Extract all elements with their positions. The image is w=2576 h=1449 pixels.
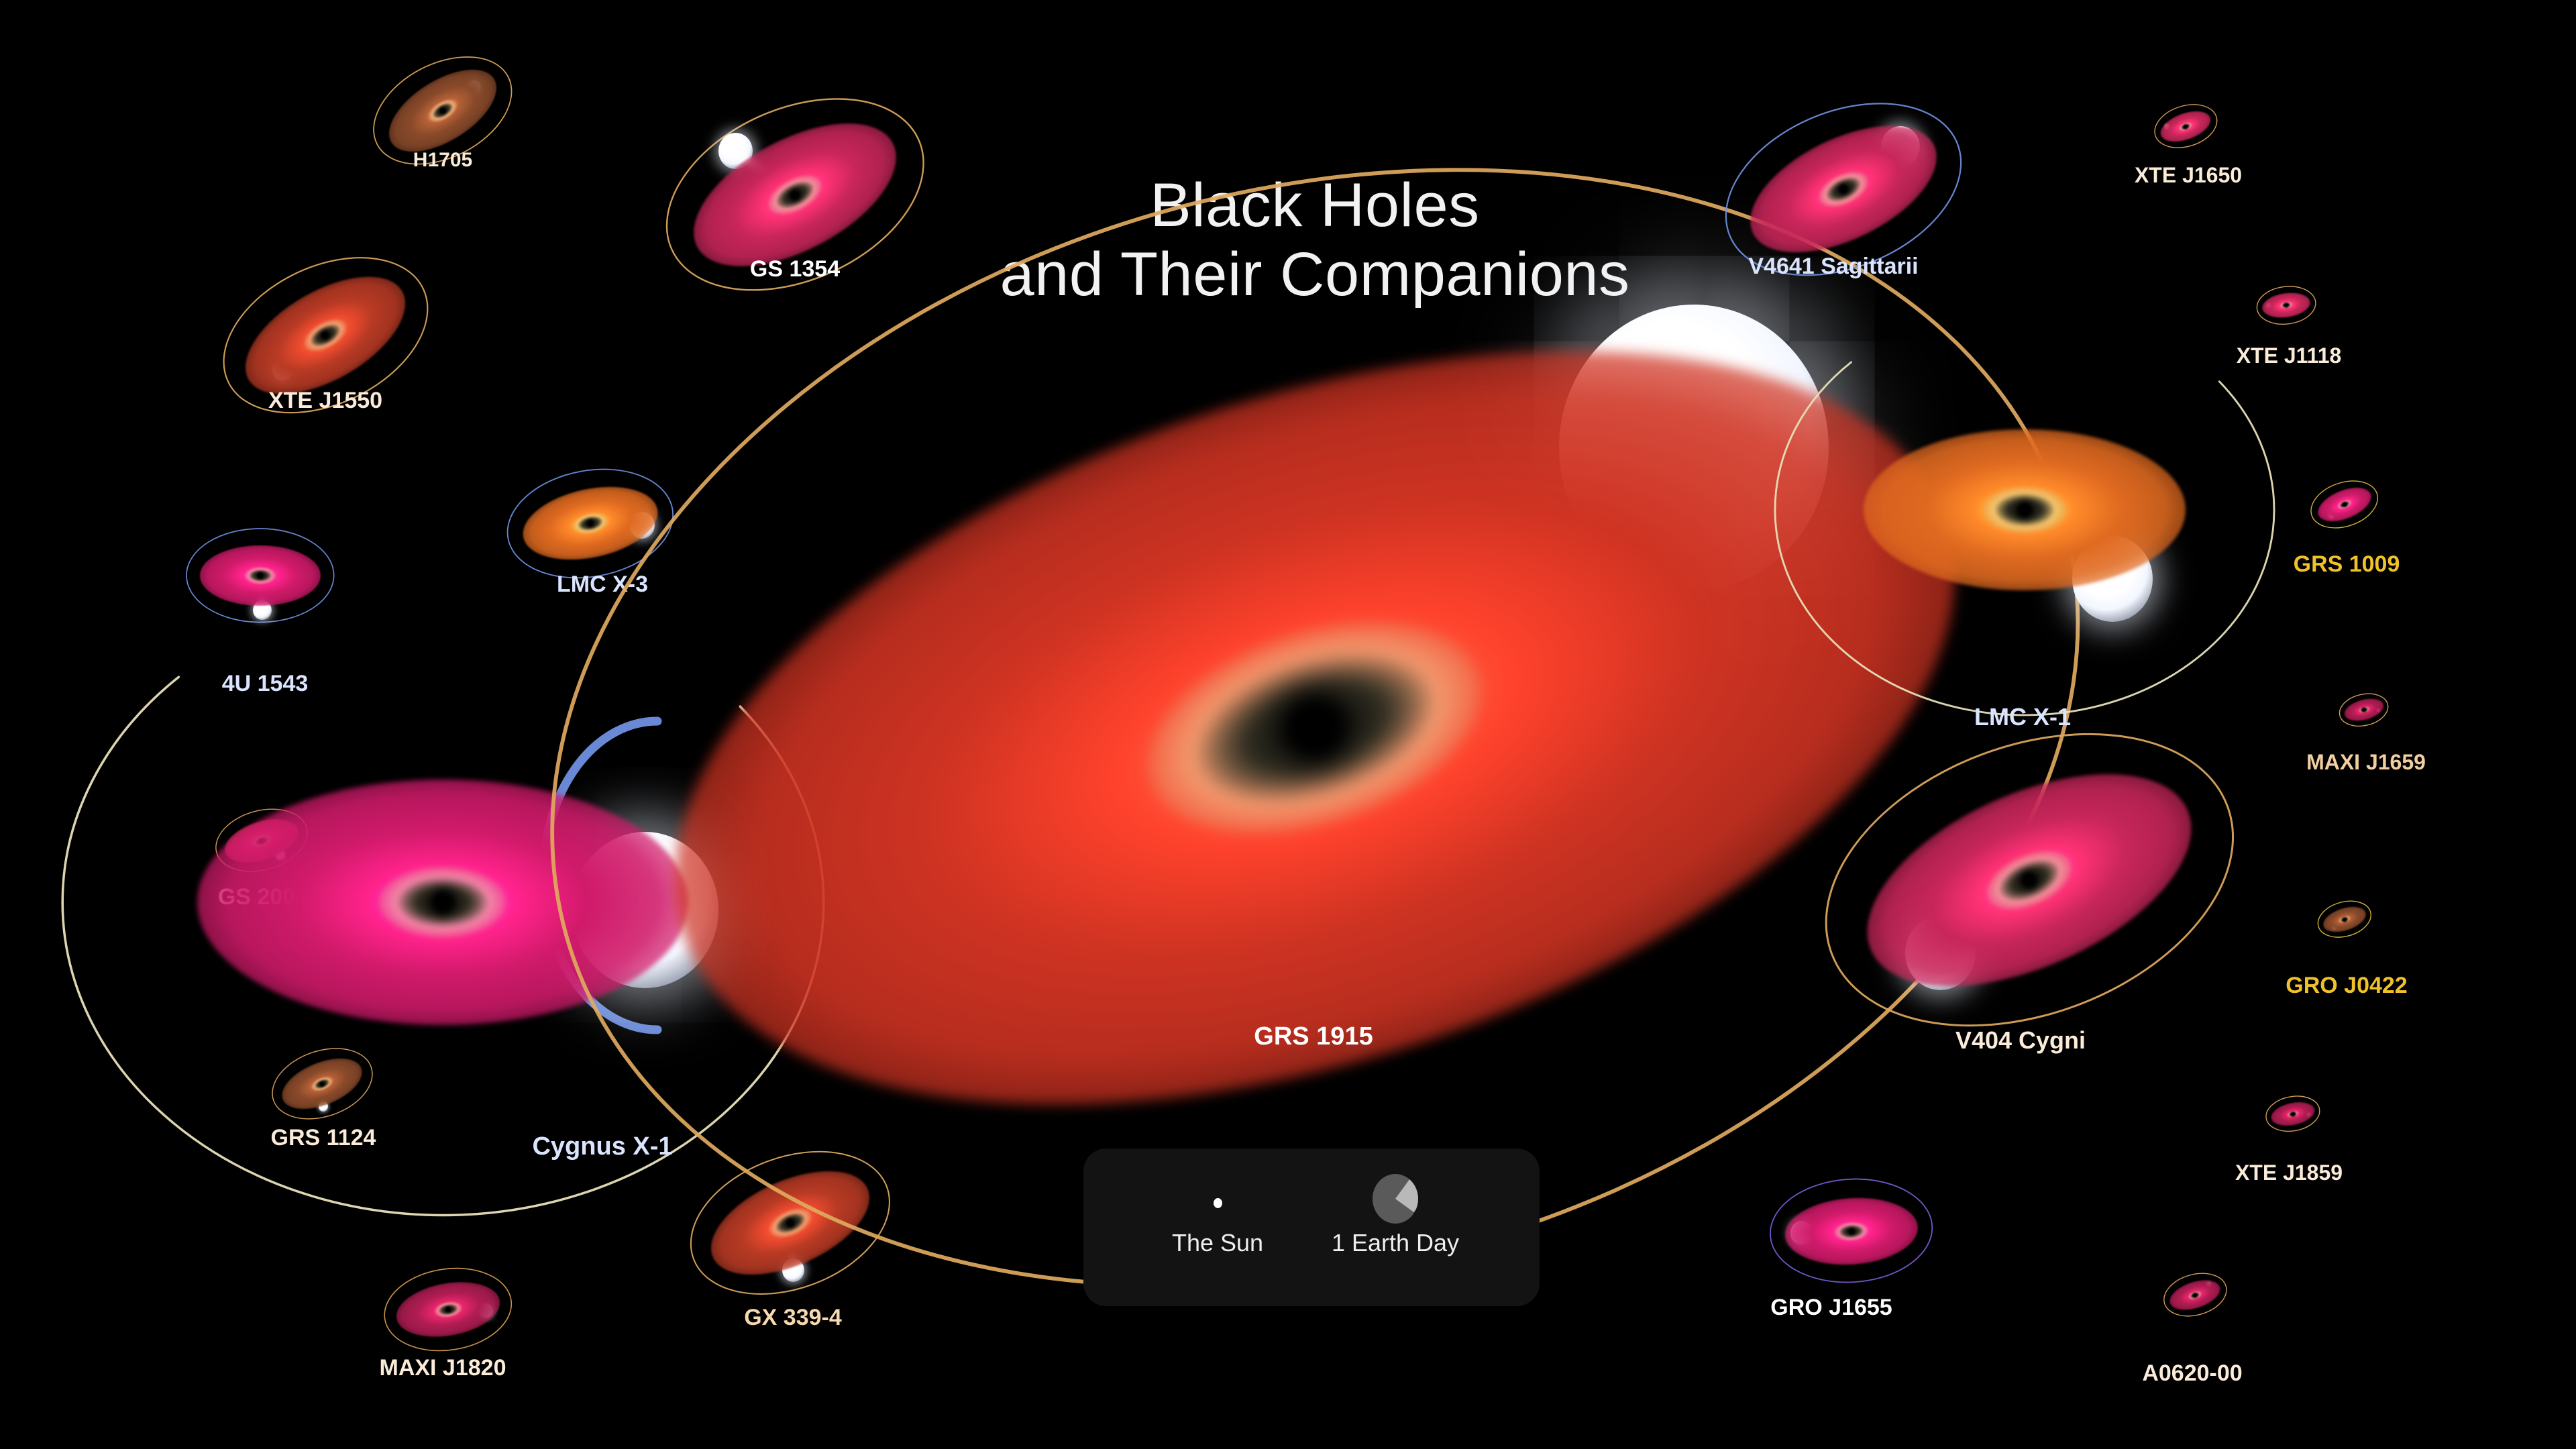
system-label-a0620: A0620-00 <box>2142 1360 2242 1387</box>
accretion-disk-lmcx1 <box>1864 429 2186 590</box>
system-label-groj0422: GRO J0422 <box>2286 973 2407 999</box>
legend-item-earth-day: 1 Earth Day <box>1315 1169 1476 1257</box>
system-label-xtej1550: XTE J1550 <box>268 388 382 414</box>
legend-panel: The Sun 1 Earth Day <box>1083 1148 1540 1306</box>
black-hole-core-groj1655 <box>1848 1228 1854 1234</box>
legend-sun-label: The Sun <box>1150 1229 1285 1257</box>
system-label-grs1915: GRS 1915 <box>1254 1022 1373 1051</box>
system-label-grs1124: GRS 1124 <box>271 1125 376 1151</box>
sky-canvas: Black Holes and Their Companions H1705GS… <box>0 0 2576 1449</box>
system-label-groj1655: GRO J1655 <box>1770 1295 1892 1321</box>
system-label-xtej1650: XTE J1650 <box>2135 163 2242 188</box>
legend-item-sun: The Sun <box>1150 1177 1285 1257</box>
legend-earth-day-label: 1 Earth Day <box>1315 1229 1476 1257</box>
system-label-maxij1659: MAXI J1659 <box>2306 750 2426 775</box>
system-label-grs1009: GRS 1009 <box>2294 551 2400 578</box>
system-label-v404: V404 Cygni <box>1955 1026 2086 1055</box>
sun-dot-icon <box>1214 1198 1222 1208</box>
system-label-xtej1859: XTE J1859 <box>2235 1161 2343 1185</box>
clock-pie-icon <box>1373 1174 1418 1224</box>
black-hole-core-lmcx1 <box>2018 503 2032 517</box>
